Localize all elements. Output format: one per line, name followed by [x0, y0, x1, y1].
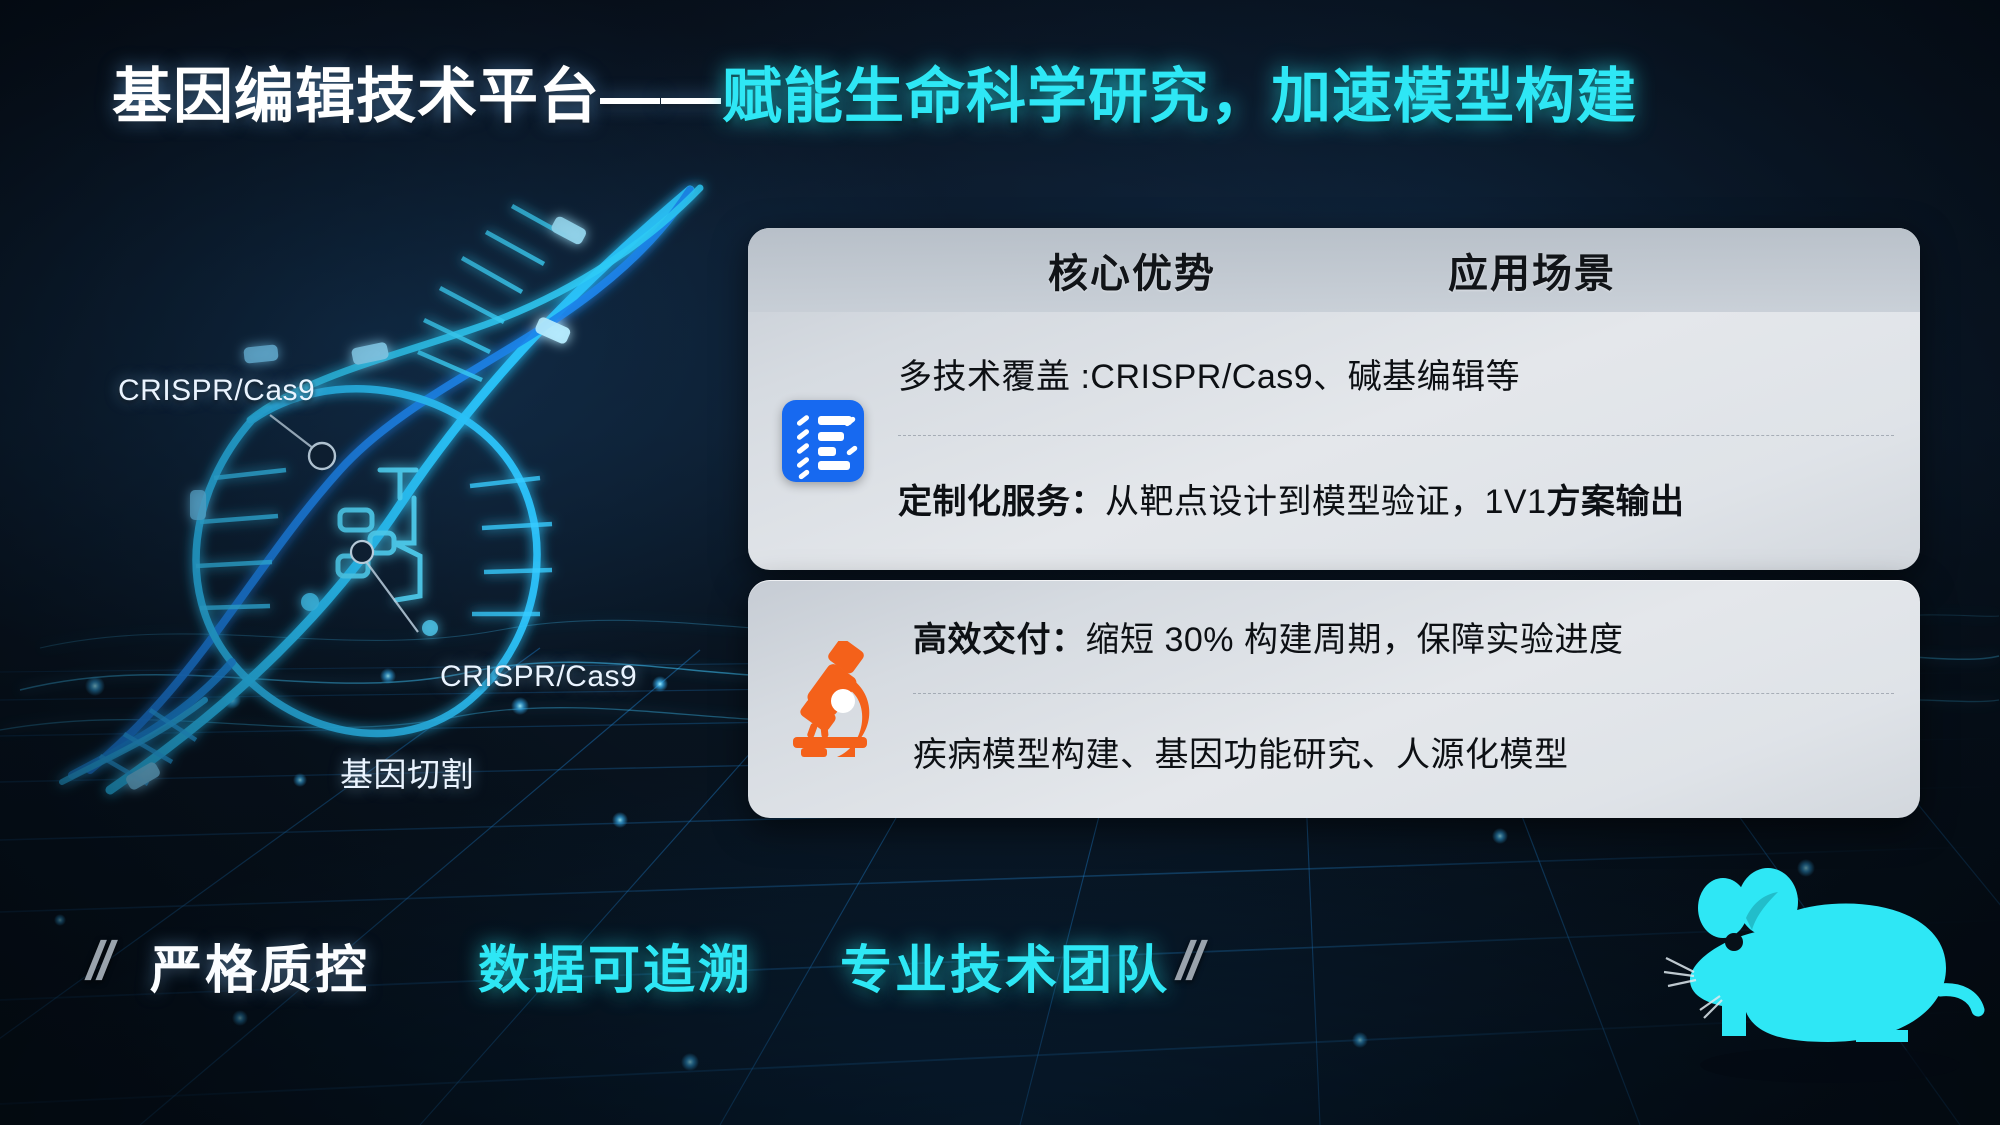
page-title-cyan: 赋能生命科学研究，加速模型构建 — [722, 63, 1637, 130]
gene-cut-label: 基因切割 — [340, 748, 474, 796]
keyword-data-traceable: 数据可追溯 — [478, 928, 753, 1003]
advantage-row-2: 定制化服务：从靶点设计到模型验证，1V1 方案输出 — [898, 436, 1894, 560]
icon-column — [748, 312, 898, 570]
microscope-icon — [779, 641, 883, 757]
document-list-icon — [782, 400, 864, 482]
header-application-scenarios: 应用场景 — [1448, 241, 1616, 299]
icon-column — [748, 580, 913, 818]
scenario-row-1: 高效交付： 缩短 30% 构建周期，保障实验进度 — [913, 580, 1894, 694]
scenario-row-1-text: 缩短 30% 构建周期，保障实验进度 — [1086, 612, 1624, 661]
keyword-professional-team: 专业技术团队 — [840, 928, 1170, 1003]
crispr-label-top: CRISPR/Cas9 — [118, 374, 315, 408]
slide-canvas: 基因编辑技术平台——赋能生命科学研究，加速模型构建 CRISPR/Cas9 CR… — [0, 0, 2000, 1125]
advantage-row-1-text: 多技术覆盖 :CRISPR/Cas9、碱基编辑等 — [898, 349, 1520, 398]
mouse-icon — [1660, 860, 1990, 1100]
rows-container: 多技术覆盖 :CRISPR/Cas9、碱基编辑等 定制化服务：从靶点设计到模型验… — [898, 312, 1920, 570]
core-advantages-card: 核心优势 应用场景 — [748, 228, 1920, 570]
scenario-row-2: 疾病模型构建、基因功能研究、人源化模型 — [913, 694, 1894, 808]
rows-container: 高效交付： 缩短 30% 构建周期，保障实验进度 疾病模型构建、基因功能研究、人… — [913, 580, 1920, 818]
advantage-row-2-lead: 定制化服务： — [898, 474, 1105, 523]
scenario-row-1-lead: 高效交付： — [913, 612, 1086, 661]
advantage-row-1: 多技术覆盖 :CRISPR/Cas9、碱基编辑等 — [898, 312, 1894, 436]
advantage-row-2-text: 从靶点设计到模型验证，1V1 — [1105, 474, 1547, 523]
page-title: 基因编辑技术平台——赋能生命科学研究，加速模型构建 — [112, 48, 1637, 135]
header-core-advantages: 核心优势 — [1048, 241, 1216, 299]
page-title-white: 基因编辑技术平台—— — [112, 63, 722, 130]
keyword-strict-qc: 严格质控 — [150, 928, 370, 1003]
advantage-row-2-tail: 方案输出 — [1547, 474, 1685, 523]
card-body: 多技术覆盖 :CRISPR/Cas9、碱基编辑等 定制化服务：从靶点设计到模型验… — [748, 312, 1920, 570]
card-header-row: 核心优势 应用场景 — [748, 228, 1920, 312]
crispr-label-bottom: CRISPR/Cas9 — [440, 660, 637, 694]
scenario-row-2-text: 疾病模型构建、基因功能研究、人源化模型 — [913, 727, 1569, 776]
card-body: 高效交付： 缩短 30% 构建周期，保障实验进度 疾病模型构建、基因功能研究、人… — [748, 580, 1920, 818]
application-scenarios-card: 高效交付： 缩短 30% 构建周期，保障实验进度 疾病模型构建、基因功能研究、人… — [748, 580, 1920, 818]
